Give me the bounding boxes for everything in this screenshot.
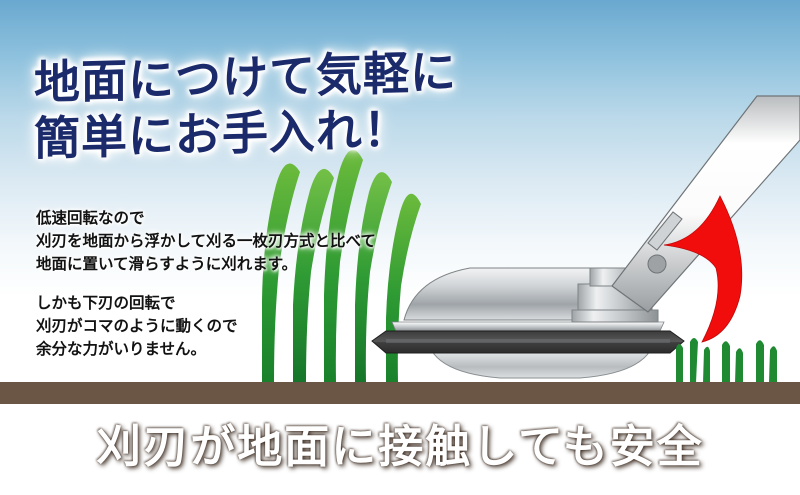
- paragraph1-line-3: 地面に置いて滑らすように刈れます。: [36, 253, 376, 276]
- paragraph2-line-1: しかも下刃の回転で: [36, 292, 238, 315]
- body-paragraph-2: しかも下刃の回転で 刈刃がコマのように動くので 余分な力がいりません。: [36, 292, 238, 361]
- paragraph2-line-2: 刈刃がコマのように動くので: [36, 315, 238, 338]
- paragraph1-line-2: 刈刃を地面から浮かして刈る一枚刃方式と比べて: [36, 230, 376, 253]
- paragraph2-line-3: 余分な力がいりません。: [36, 338, 238, 361]
- promo-banner-image: 地面につけて気軽に 簡単にお手入れ！ 低速回転なので 刈刃を地面から浮かして刈る…: [0, 0, 800, 495]
- banner-text: 刈刃が地面に接触しても安全: [96, 410, 703, 475]
- bottom-banner: 刈刃が地面に接触しても安全: [0, 390, 800, 495]
- paragraph1-line-1: 低速回転なので: [36, 207, 376, 230]
- body-paragraph-1: 低速回転なので 刈刃を地面から浮かして刈る一枚刃方式と比べて 地面に置いて滑らす…: [36, 207, 376, 276]
